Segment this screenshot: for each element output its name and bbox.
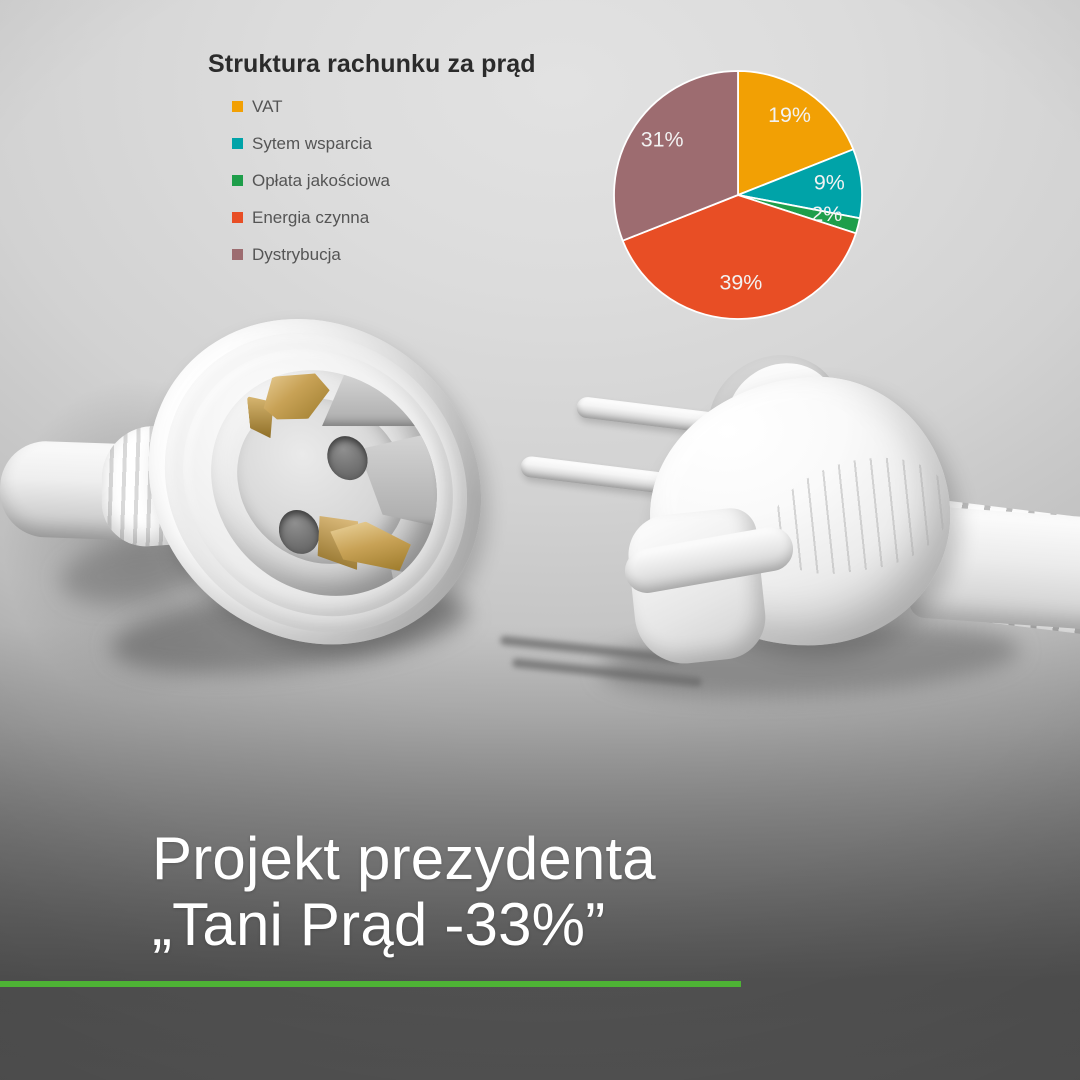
legend-swatch-icon [232, 212, 243, 223]
legend-item-label: Dystrybucja [252, 245, 341, 265]
legend-item-5: Dystrybucja [232, 236, 390, 273]
legend-swatch-icon [232, 138, 243, 149]
pie-slice-label: 19% [768, 103, 811, 127]
pie-chart: 19%9%2%39%31% [612, 69, 864, 321]
pie-slice-label: 31% [641, 127, 684, 151]
legend-swatch-icon [232, 101, 243, 112]
legend-item-3: Opłata jakościowa [232, 162, 390, 199]
page-title-line-2: „Tani Prąd -33%” [152, 892, 912, 958]
legend-item-label: Sytem wsparcia [252, 134, 372, 154]
legend-item-2: Sytem wsparcia [232, 125, 390, 162]
legend-item-label: Opłata jakościowa [252, 171, 390, 191]
page-title-line-1: Projekt prezydenta [152, 825, 656, 892]
pie-slice-label: 9% [814, 170, 845, 194]
legend-item-label: VAT [252, 97, 283, 117]
legend-swatch-icon [232, 249, 243, 260]
legend-item-4: Energia czynna [232, 199, 390, 236]
accent-rule [0, 981, 741, 987]
pie-chart-svg: 19%9%2%39%31% [612, 69, 864, 321]
chart-title: Struktura rachunku za prąd [208, 50, 536, 79]
pie-slice-label: 39% [719, 271, 762, 295]
chart-legend: VATSytem wsparciaOpłata jakościowaEnergi… [232, 88, 390, 273]
page-title: Projekt prezydenta „Tani Prąd -33%” [152, 826, 912, 958]
legend-item-1: VAT [232, 88, 390, 125]
legend-swatch-icon [232, 175, 243, 186]
poster-canvas: Struktura rachunku za prąd VATSytem wspa… [0, 0, 1080, 1080]
legend-item-label: Energia czynna [252, 208, 369, 228]
